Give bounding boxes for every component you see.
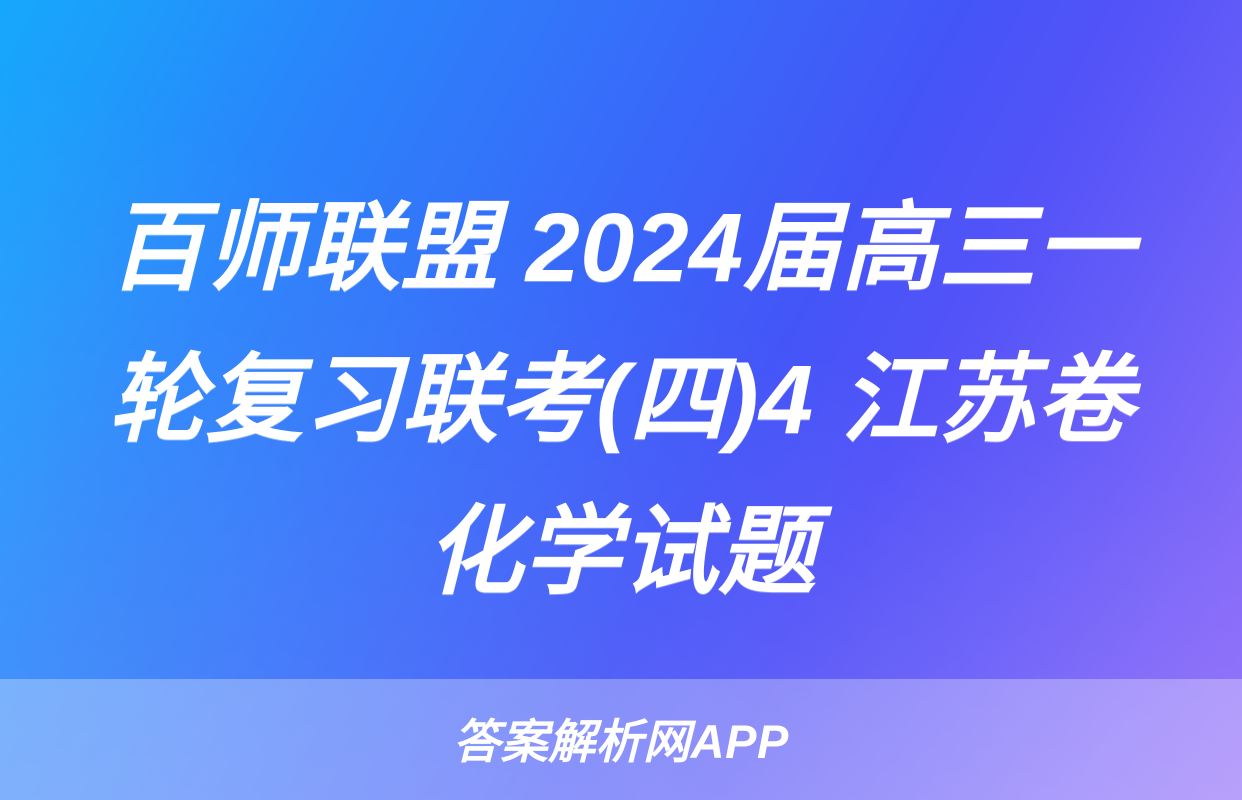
app-brand-watermark: 答案解析网APP: [453, 718, 789, 765]
page-title: 百师联盟 2024届高三一 轮复习联考(四)4 江苏卷 化学试题: [0, 172, 1242, 628]
title-line-1: 百师联盟 2024届高三一: [58, 172, 1184, 324]
poster-card: 百师联盟 2024届高三一 轮复习联考(四)4 江苏卷 化学试题 答案解析网AP…: [0, 0, 1242, 800]
title-line-3: 化学试题: [58, 476, 1184, 628]
title-line-2: 轮复习联考(四)4 江苏卷: [58, 324, 1184, 476]
footer-watermark-band: 答案解析网APP: [0, 679, 1242, 800]
